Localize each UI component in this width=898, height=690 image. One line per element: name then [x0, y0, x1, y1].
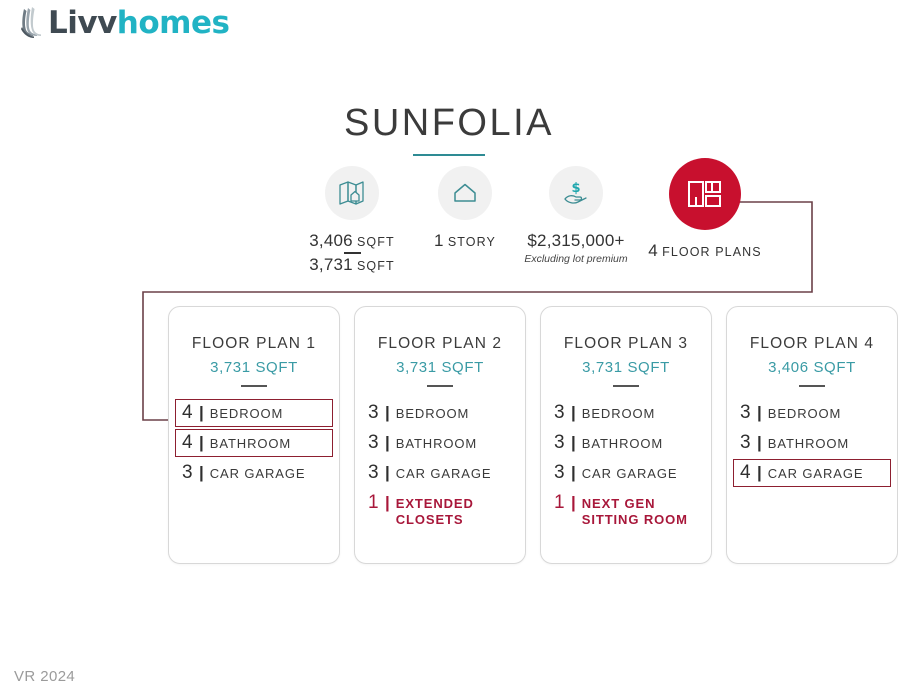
feature-separator: | — [571, 403, 576, 423]
feature-name: EXTENDED CLOSETS — [396, 496, 512, 527]
feature-qty: 3 — [554, 402, 567, 424]
feature-qty: 3 — [368, 462, 381, 484]
stat-price-label: $2,315,000+ Excluding lot premium — [518, 231, 634, 265]
story-value: 1 — [434, 231, 444, 250]
feature-separator: | — [385, 403, 390, 423]
feature-name: BATHROOM — [582, 436, 663, 452]
feature-qty: 4 — [740, 462, 753, 484]
feature-separator: | — [199, 433, 204, 453]
card-title: FLOOR PLAN 2 — [355, 335, 525, 353]
feature-separator: | — [199, 463, 204, 483]
feature-list: 4 | BEDROOM 4 | BATHROOM 3 | CAR GARAGE — [169, 399, 339, 487]
stat-floor-plans: 4 FLOOR PLANS — [640, 158, 770, 261]
hand-dollar-icon: $ — [549, 166, 603, 220]
sqft-max-unit: SQFT — [357, 259, 395, 273]
feature-row: 4 | CAR GARAGE — [733, 459, 891, 487]
feature-list: 3 | BEDROOM 3 | BATHROOM 3 | CAR GARAGE … — [355, 399, 525, 530]
feature-name: BEDROOM — [768, 406, 841, 422]
price-note: Excluding lot premium — [518, 253, 634, 265]
swoosh-logo-icon — [18, 5, 52, 41]
house-icon — [438, 166, 492, 220]
feature-qty: 4 — [182, 402, 195, 424]
plans-value: 4 — [648, 241, 658, 260]
feature-separator: | — [757, 403, 762, 423]
floorplan-rooms-icon — [669, 158, 741, 230]
stats-row: 3,406 SQFT 3,731 SQFT 1 STORY $ — [300, 166, 770, 286]
title-underline — [413, 154, 485, 156]
feature-separator: | — [385, 433, 390, 453]
feature-row: 3 | BATHROOM — [733, 429, 891, 457]
sqft-min-value: 3,406 — [309, 231, 353, 250]
feature-row: 3 | CAR GARAGE — [547, 459, 705, 487]
feature-row: 4 | BEDROOM — [175, 399, 333, 427]
card-title: FLOOR PLAN 1 — [169, 335, 339, 353]
feature-qty: 3 — [554, 462, 567, 484]
feature-qty: 3 — [182, 462, 195, 484]
brand-logo: Livv homes — [18, 2, 229, 44]
feature-name: NEXT GEN SITTING ROOM — [582, 496, 698, 527]
feature-name: BATHROOM — [210, 436, 291, 452]
floor-plan-card-2[interactable]: FLOOR PLAN 2 3,731 SQFT 3 | BEDROOM 3 | … — [354, 306, 526, 564]
card-title: FLOOR PLAN 3 — [541, 335, 711, 353]
card-sqft: 3,731 SQFT — [541, 359, 711, 376]
feature-row-highlight: 1 | NEXT GEN SITTING ROOM — [547, 489, 705, 530]
feature-separator: | — [571, 493, 576, 513]
feature-row: 3 | BATHROOM — [361, 429, 519, 457]
feature-separator: | — [757, 433, 762, 453]
card-title: FLOOR PLAN 4 — [727, 335, 897, 353]
svg-text:$: $ — [571, 181, 580, 196]
sqft-min-unit: SQFT — [357, 235, 395, 249]
brand-name-primary: Livv — [48, 5, 117, 41]
feature-name: CAR GARAGE — [582, 466, 678, 482]
feature-row: 3 | CAR GARAGE — [361, 459, 519, 487]
stat-square-footage-label: 3,406 SQFT 3,731 SQFT — [297, 231, 407, 275]
card-sqft: 3,731 SQFT — [355, 359, 525, 376]
feature-qty: 3 — [740, 432, 753, 454]
range-dash — [344, 252, 361, 254]
floor-plan-card-3[interactable]: FLOOR PLAN 3 3,731 SQFT 3 | BEDROOM 3 | … — [540, 306, 712, 564]
feature-name: CAR GARAGE — [210, 466, 306, 482]
feature-row-highlight: 1 | EXTENDED CLOSETS — [361, 489, 519, 530]
feature-name: BEDROOM — [396, 406, 469, 422]
feature-row: 4 | BATHROOM — [175, 429, 333, 457]
card-divider — [799, 385, 825, 387]
feature-separator: | — [571, 433, 576, 453]
feature-name: BATHROOM — [768, 436, 849, 452]
feature-qty: 3 — [368, 432, 381, 454]
feature-separator: | — [385, 463, 390, 483]
feature-row: 3 | BATHROOM — [547, 429, 705, 457]
card-sqft: 3,731 SQFT — [169, 359, 339, 376]
feature-separator: | — [571, 463, 576, 483]
stat-stories-label: 1 STORY — [410, 231, 520, 251]
feature-qty: 1 — [554, 492, 567, 514]
feature-separator: | — [385, 493, 390, 513]
footer-text: VR 2024 — [14, 668, 75, 685]
price-value: $2,315,000+ — [527, 231, 624, 250]
feature-qty: 3 — [368, 402, 381, 424]
stat-stories: 1 STORY — [410, 166, 520, 251]
feature-qty: 3 — [740, 402, 753, 424]
feature-list: 3 | BEDROOM 3 | BATHROOM 4 | CAR GARAGE — [727, 399, 897, 487]
page-title: SUNFOLIA — [0, 102, 898, 145]
story-unit: STORY — [448, 235, 496, 249]
brand-name-secondary: homes — [117, 5, 230, 41]
card-divider — [613, 385, 639, 387]
floor-plan-card-4[interactable]: FLOOR PLAN 4 3,406 SQFT 3 | BEDROOM 3 | … — [726, 306, 898, 564]
feature-row: 3 | BEDROOM — [361, 399, 519, 427]
floorplan-map-icon — [325, 166, 379, 220]
feature-qty: 4 — [182, 432, 195, 454]
title-block: SUNFOLIA — [0, 102, 898, 156]
stat-floor-plans-label: 4 FLOOR PLANS — [640, 241, 770, 261]
stat-price: $ $2,315,000+ Excluding lot premium — [518, 166, 634, 265]
feature-row: 3 | CAR GARAGE — [175, 459, 333, 487]
feature-row: 3 | BEDROOM — [547, 399, 705, 427]
feature-name: BATHROOM — [396, 436, 477, 452]
stat-square-footage: 3,406 SQFT 3,731 SQFT — [297, 166, 407, 275]
feature-qty: 1 — [368, 492, 381, 514]
floor-plan-cards: FLOOR PLAN 1 3,731 SQFT 4 | BEDROOM 4 | … — [168, 306, 890, 566]
feature-separator: | — [757, 463, 762, 483]
feature-name: BEDROOM — [582, 406, 655, 422]
floor-plan-card-1[interactable]: FLOOR PLAN 1 3,731 SQFT 4 | BEDROOM 4 | … — [168, 306, 340, 564]
feature-name: CAR GARAGE — [396, 466, 492, 482]
card-divider — [427, 385, 453, 387]
card-sqft: 3,406 SQFT — [727, 359, 897, 376]
sqft-max-value: 3,731 — [309, 255, 353, 274]
feature-list: 3 | BEDROOM 3 | BATHROOM 3 | CAR GARAGE … — [541, 399, 711, 530]
feature-separator: | — [199, 403, 204, 423]
feature-name: BEDROOM — [210, 406, 283, 422]
plans-unit: FLOOR PLANS — [662, 245, 762, 259]
feature-qty: 3 — [554, 432, 567, 454]
card-divider — [241, 385, 267, 387]
feature-name: CAR GARAGE — [768, 466, 864, 482]
feature-row: 3 | BEDROOM — [733, 399, 891, 427]
